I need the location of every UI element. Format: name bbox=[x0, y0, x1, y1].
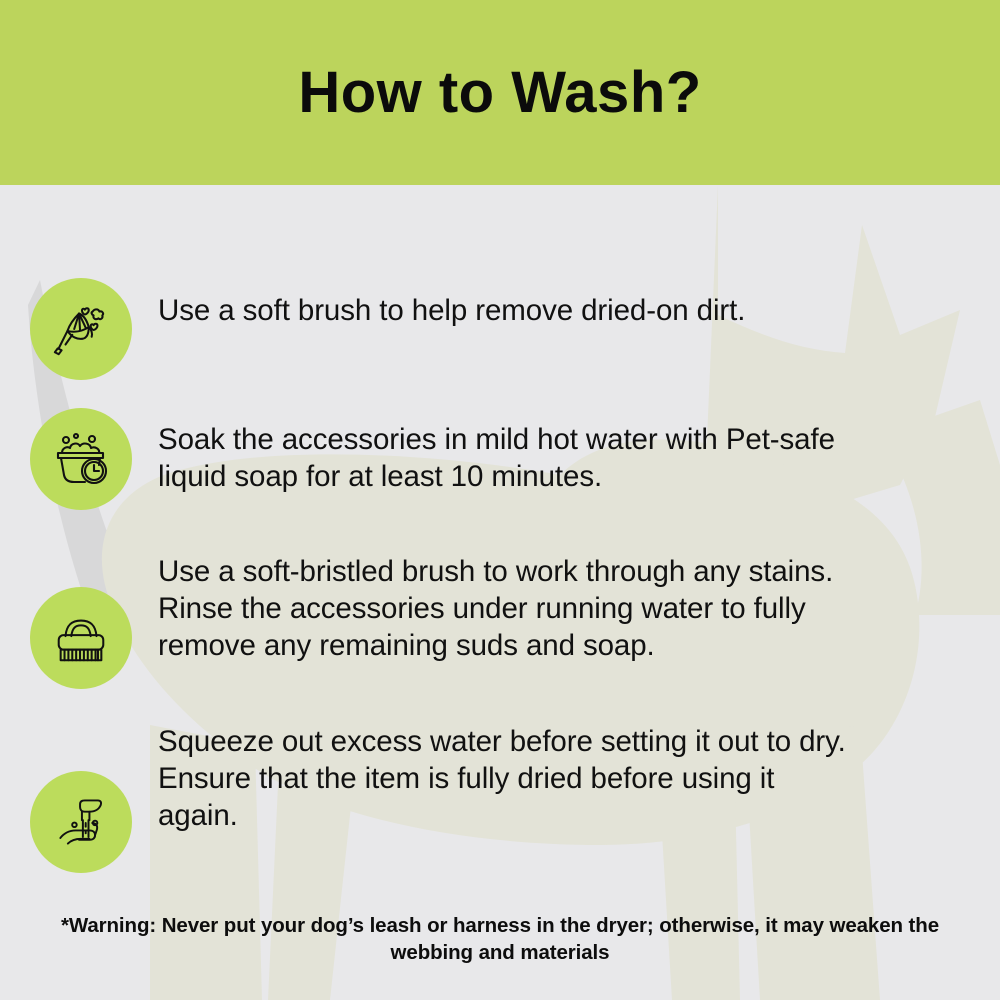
step-item: Use a soft brush to help remove dried-on… bbox=[30, 278, 970, 380]
page-title: How to Wash? bbox=[298, 64, 701, 122]
step-icon-badge bbox=[30, 587, 132, 689]
step-icon-badge bbox=[30, 278, 132, 380]
step-icon-badge bbox=[30, 771, 132, 873]
step-item: Soak the accessories in mild hot water w… bbox=[30, 408, 970, 510]
step-text: Squeeze out excess water before setting … bbox=[158, 723, 858, 834]
header-band: How to Wash? bbox=[0, 0, 1000, 185]
step-icon-badge bbox=[30, 408, 132, 510]
step-item: Use a soft-bristled brush to work throug… bbox=[30, 553, 970, 689]
warning-note: *Warning: Never put your dog’s leash or … bbox=[20, 912, 980, 966]
infographic-page: How to Wash? bbox=[0, 0, 1000, 1000]
soaking-tub-timer-icon bbox=[49, 427, 113, 491]
scrub-brush-icon bbox=[50, 607, 112, 669]
feather-duster-icon bbox=[50, 298, 112, 360]
step-item: Squeeze out excess water before setting … bbox=[30, 723, 970, 873]
step-text: Soak the accessories in mild hot water w… bbox=[158, 408, 858, 495]
step-text: Use a soft-bristled brush to work throug… bbox=[158, 553, 878, 664]
step-text: Use a soft brush to help remove dried-on… bbox=[158, 278, 838, 329]
hand-under-faucet-icon bbox=[51, 792, 111, 852]
